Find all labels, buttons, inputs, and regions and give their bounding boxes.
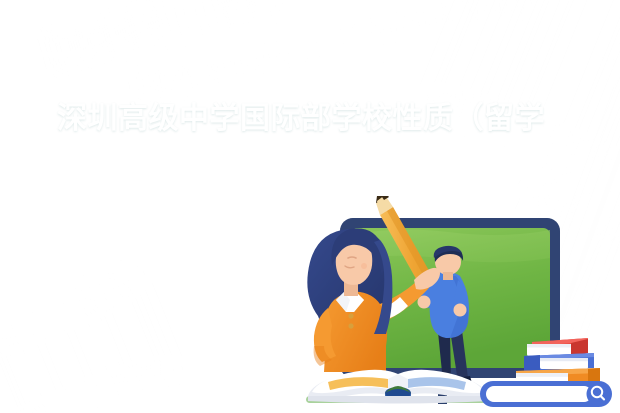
promo-banner: 深圳高级中学国际部学校性质（留学 — [0, 0, 620, 413]
light-streak — [0, 265, 185, 413]
book-stack-middle — [524, 353, 594, 371]
search-bar — [480, 381, 612, 407]
education-illustration — [288, 196, 620, 413]
light-streak — [121, 0, 538, 101]
light-streak — [40, 0, 341, 74]
banner-headline: 深圳高级中学国际部学校性质（留学 — [57, 99, 620, 139]
accent-rule — [27, 52, 92, 57]
